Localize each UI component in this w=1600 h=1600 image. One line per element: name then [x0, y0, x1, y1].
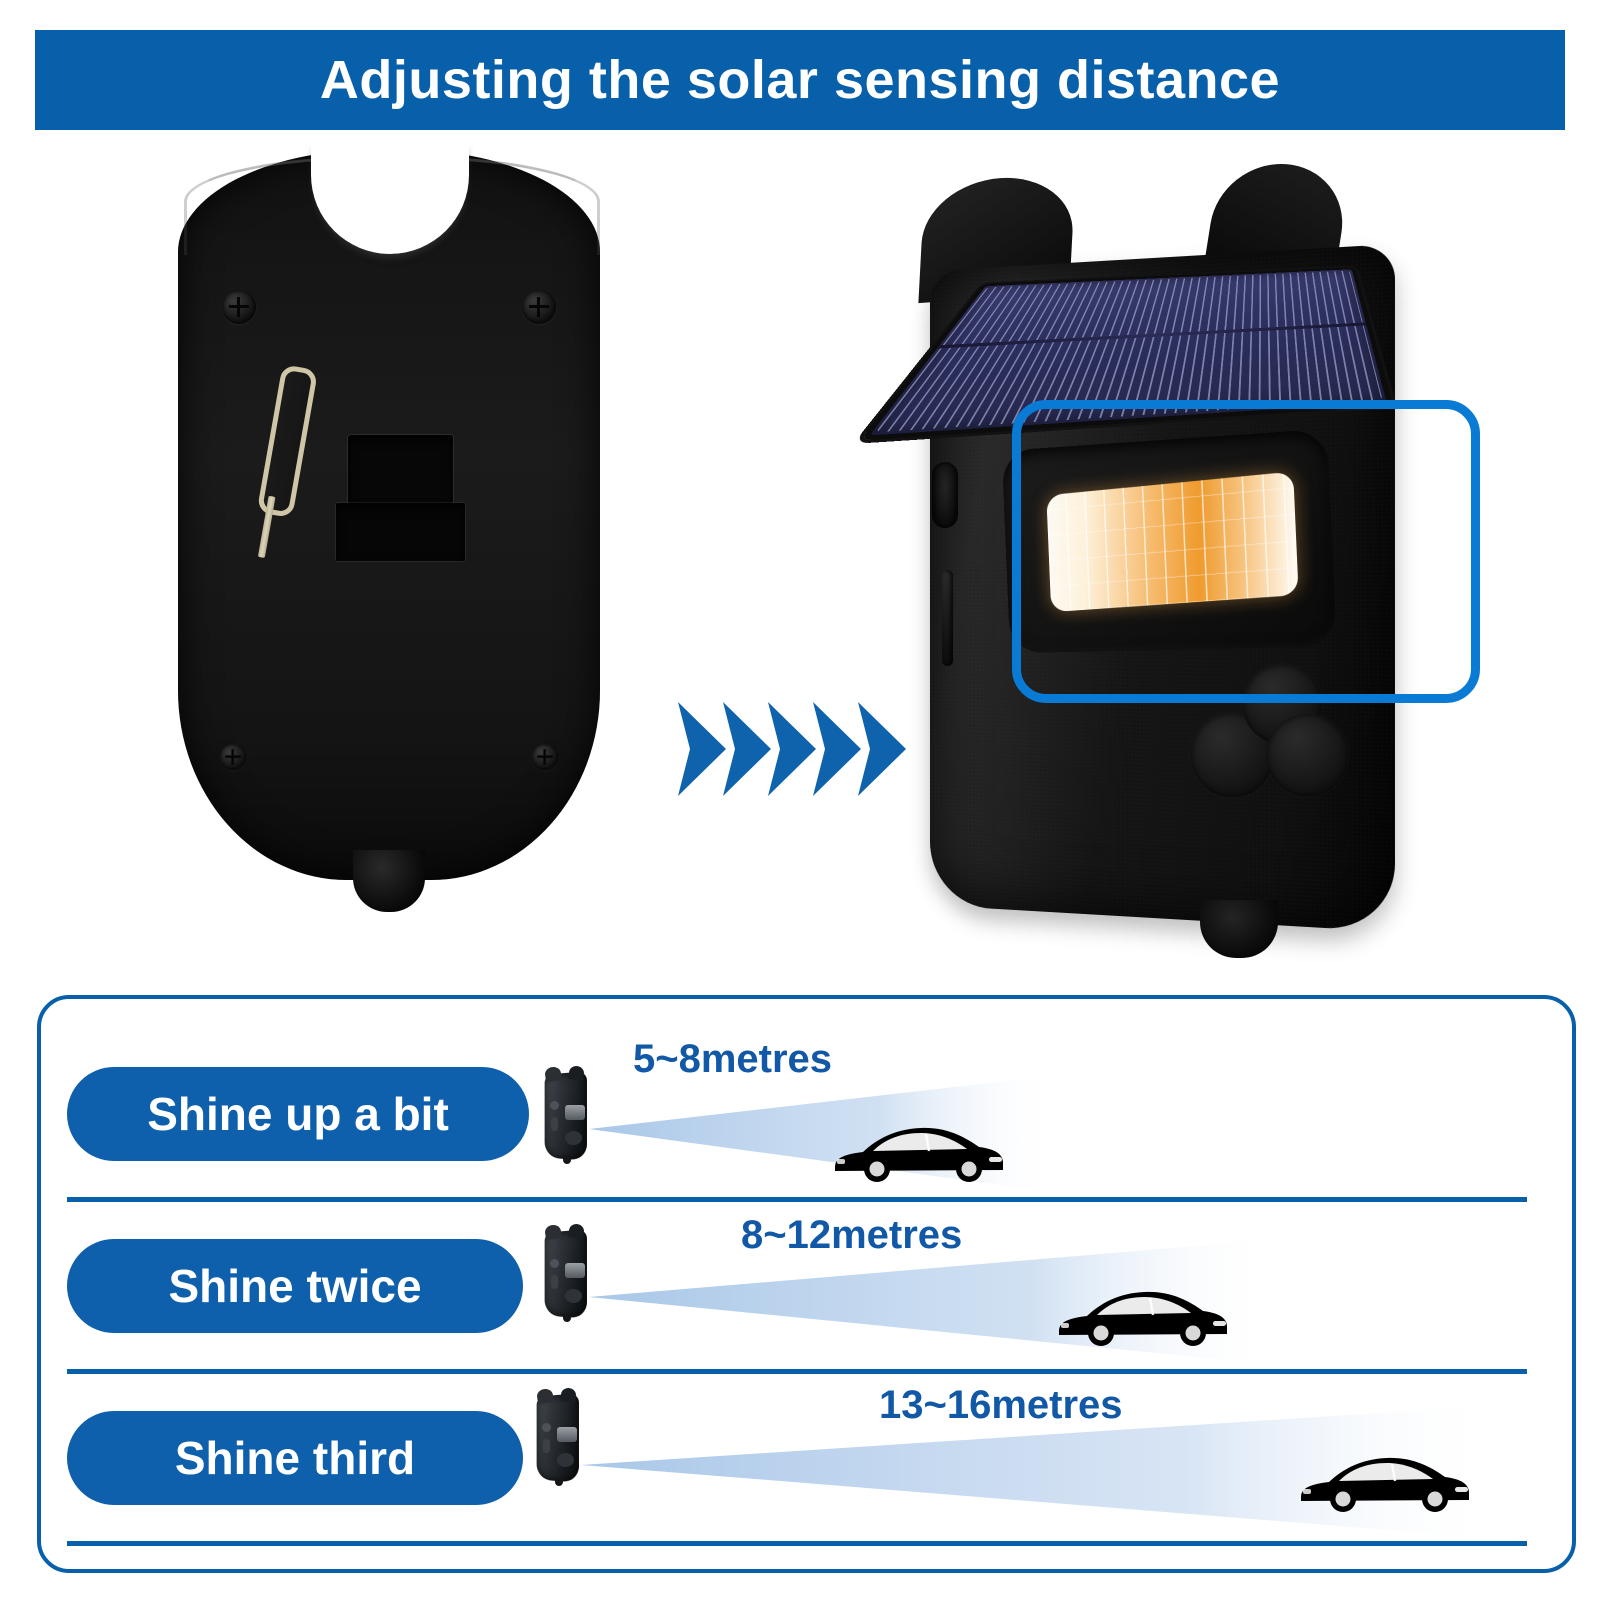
distance-row: Shine twice 8~12metres — [41, 1197, 1572, 1373]
product-illustration-area — [0, 140, 1600, 970]
mode-pill-shine-twice[interactable]: Shine twice — [67, 1239, 523, 1333]
distance-row: Shine up a bit 5~8metres — [41, 1025, 1572, 1201]
distance-row: Shine third 13~16metres — [41, 1369, 1572, 1545]
car-silhouette-icon — [829, 1121, 1007, 1183]
car-silhouette-icon — [1053, 1285, 1231, 1347]
title-banner: Adjusting the solar sensing distance — [35, 30, 1565, 130]
distance-modes-card: Shine up a bit 5~8metres — [37, 995, 1576, 1573]
mini-sensor-device-icon — [539, 1065, 593, 1161]
mode-pill-shine-third[interactable]: Shine third — [67, 1411, 523, 1505]
screw-icon — [522, 290, 556, 324]
bottom-nub — [1200, 900, 1278, 958]
mode-label: Shine twice — [168, 1259, 421, 1313]
mini-sensor-device-icon — [539, 1223, 593, 1319]
wall-mount-slot — [348, 435, 453, 505]
mini-sensor-device-icon — [531, 1387, 585, 1483]
product-back-view — [178, 150, 600, 910]
screw-icon — [532, 744, 559, 771]
distance-label: 13~16metres — [879, 1383, 1123, 1428]
screw-icon — [220, 744, 247, 771]
side-button[interactable] — [932, 462, 958, 528]
clover-lobe — [1266, 714, 1349, 798]
car-silhouette-icon — [1295, 1451, 1473, 1513]
distance-label: 5~8metres — [633, 1037, 832, 1082]
side-vent — [942, 570, 953, 666]
page-title: Adjusting the solar sensing distance — [320, 49, 1280, 111]
screw-icon — [222, 290, 256, 324]
mode-pill-shine-up-a-bit[interactable]: Shine up a bit — [67, 1067, 529, 1161]
distance-label: 8~12metres — [741, 1213, 962, 1258]
chevron-right-icon — [856, 700, 912, 798]
chevron-arrows — [676, 700, 906, 800]
sensor-highlight-box — [1012, 400, 1480, 703]
product-perspective-view — [880, 140, 1440, 930]
mode-label: Shine up a bit — [147, 1087, 449, 1141]
bottom-nub — [353, 850, 425, 912]
mode-label: Shine third — [175, 1431, 415, 1485]
